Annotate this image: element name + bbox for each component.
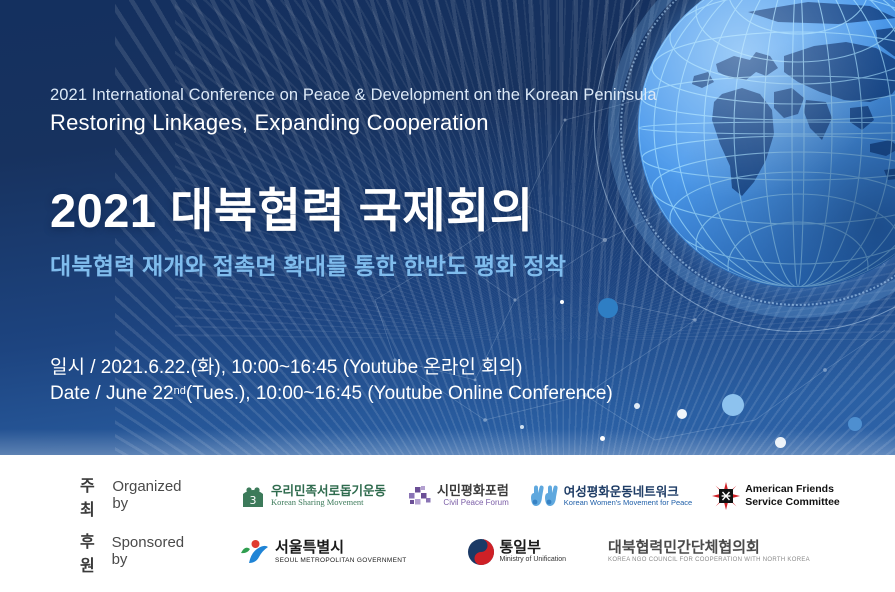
date-line-korean: 일시 / 2021.6.22.(화), 10:00~16:45 (Youtube… (50, 352, 522, 379)
afsc-text: American Friends Service Committee (745, 483, 840, 509)
organized-by-label-en: Organized by (112, 478, 192, 512)
kwm-name-en: Korean Women's Movement for Peace (564, 499, 692, 507)
seoul-name-ko: 서울특별시 (275, 540, 407, 557)
mou-name-ko: 통일부 (500, 540, 567, 557)
civil-peace-forum-text: 시민평화포럼 Civil Peace Forum (437, 484, 509, 508)
logo-civil-peace-forum: 시민평화포럼 Civil Peace Forum (408, 484, 509, 508)
afsc-star-icon (712, 482, 740, 510)
logo-korean-womens-movement-for-peace: 여성평화운동네트워크 Korean Women's Movement for P… (529, 484, 692, 508)
kwm-text: 여성평화운동네트워크 Korean Women's Movement for P… (564, 485, 692, 507)
cpf-name-ko: 시민평화포럼 (437, 484, 509, 499)
logo-korean-sharing-movement: 3 우리민족서로돕기운동 Korean Sharing Movement (240, 483, 386, 509)
organized-by-label-ko: 주최 (80, 472, 106, 520)
kwm-name-ko: 여성평화운동네트워크 (564, 485, 692, 499)
mou-text: 통일부 Ministry of Unification (500, 540, 567, 565)
ngo-council-name-ko: 대북협력민간단체협의회 (608, 540, 810, 557)
date-en-suffix: (Tues.), 10:00~16:45 (Youtube Online Con… (186, 383, 613, 404)
globe-sphere (638, 0, 895, 288)
korean-sharing-movement-text: 우리민족서로돕기운동 Korean Sharing Movement (271, 484, 386, 508)
korean-sharing-movement-icon: 3 (240, 483, 266, 509)
logo-korea-ngo-council: 대북협력민간단체협의회 KOREA NGO COUNCIL FOR COOPER… (608, 540, 810, 564)
ksm-name-ko: 우리민족서로돕기운동 (271, 484, 386, 498)
organized-by-label: 주최 Organized by (42, 472, 192, 520)
conference-subhead: Restoring Linkages, Expanding Cooperatio… (50, 110, 489, 136)
sponsored-by-row: 후원 Sponsored by 서울특별시 SEOUL METROPOLITAN… (42, 529, 842, 575)
hero-bottom-fade (0, 429, 895, 455)
conference-eyebrow: 2021 International Conference on Peace &… (50, 86, 657, 105)
seoul-symbol-icon (240, 539, 270, 565)
decor-dot (677, 409, 687, 419)
kncck-text: 대북협력민간단체협의회 KOREA NGO COUNCIL FOR COOPER… (608, 540, 810, 564)
sponsored-by-label-en: Sponsored by (112, 534, 192, 568)
date-en-ordinal: nd (174, 385, 186, 397)
ngo-council-name-en: KOREA NGO COUNCIL FOR COOPERATION WITH N… (608, 557, 810, 564)
taegeuk-icon (467, 538, 495, 566)
date-en-prefix: Date / June 22 (50, 383, 174, 404)
logo-american-friends-service-committee: American Friends Service Committee (712, 482, 840, 510)
logo-seoul-metropolitan-government: 서울특별시 SEOUL METROPOLITAN GOVERNMENT (240, 539, 407, 565)
logo-ministry-of-unification: 통일부 Ministry of Unification (467, 538, 567, 566)
sponsored-by-label-ko: 후원 (80, 528, 106, 576)
date-line-english: Date / June 22nd(Tues.), 10:00~16:45 (Yo… (50, 383, 613, 405)
sponsor-footer: 주최 Organized by 3 우리민족서로돕기운동 Korean Shar… (0, 455, 895, 592)
cpf-name-en: Civil Peace Forum (437, 499, 509, 508)
civil-peace-forum-icon (408, 484, 432, 508)
decor-dot (722, 394, 744, 416)
hero-banner: 2021 International Conference on Peace &… (0, 0, 895, 455)
afsc-name-en: American Friends Service Committee (745, 483, 840, 509)
conference-subtitle-korean: 대북협력 재개와 접촉면 확대를 통한 한반도 평화 정착 (50, 247, 566, 281)
svg-text:3: 3 (250, 494, 257, 507)
decor-dot (634, 403, 640, 409)
seoul-name-en: SEOUL METROPOLITAN GOVERNMENT (275, 557, 407, 564)
mou-name-en: Ministry of Unification (500, 556, 567, 564)
peace-hands-icon (529, 484, 559, 508)
globe-graphic (608, 0, 895, 318)
decor-dot (560, 300, 564, 304)
seoul-text: 서울특별시 SEOUL METROPOLITAN GOVERNMENT (275, 540, 407, 564)
conference-poster: 2021 International Conference on Peace &… (0, 0, 895, 592)
sponsored-by-label: 후원 Sponsored by (42, 528, 192, 576)
page-title: 2021 대북협력 국제회의 (50, 172, 534, 241)
organized-by-row: 주최 Organized by 3 우리민족서로돕기운동 Korean Shar… (42, 473, 842, 519)
ksm-name-en: Korean Sharing Movement (271, 498, 386, 508)
